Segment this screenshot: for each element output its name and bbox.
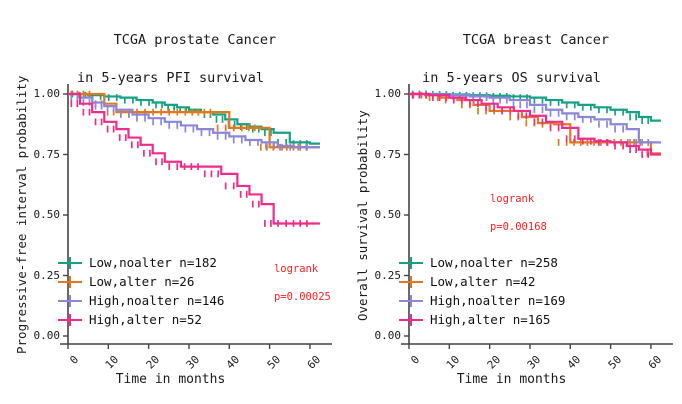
legend-color-swatch-icon (399, 256, 423, 270)
legend-item-label: High,alter n=165 (430, 312, 550, 327)
survival-curve (68, 94, 320, 147)
logrank-pvalue: p=0.00168 (490, 221, 547, 233)
legend-color-swatch-icon (58, 256, 82, 270)
y-axis-tick-label: 0.25 (355, 269, 401, 282)
legend-color-swatch-icon (399, 294, 423, 308)
survival-curve (68, 94, 320, 147)
legend-item-label: Low,alter n=42 (430, 274, 535, 289)
legend-item-label: High,noalter n=146 (89, 293, 224, 308)
censor-tick-group (71, 100, 307, 227)
survival-curve (68, 94, 320, 144)
legend-item-label: Low,noalter n=182 (89, 255, 217, 270)
y-axis-tick-label: 0.50 (355, 208, 401, 221)
plot-area (0, 0, 341, 404)
legend-item[interactable]: Low,alter n=42 (399, 272, 565, 291)
legend-color-swatch-icon (58, 313, 82, 327)
y-axis-tick-label: 0.75 (355, 148, 401, 161)
figure-root: TCGA prostate Cancer in 5-years PFI surv… (0, 0, 682, 404)
panel-breast-os: TCGA breast Cancer in 5-years OS surviva… (341, 0, 682, 404)
legend-item-label: High,alter n=52 (89, 312, 202, 327)
y-axis-tick-label: 0.25 (14, 269, 60, 282)
legend-item[interactable]: High,alter n=165 (399, 310, 565, 329)
legend-color-swatch-icon (399, 313, 423, 327)
legend: Low,noalter n=258Low,alter n=42High,noal… (399, 253, 565, 329)
y-axis-tick-label: 0.00 (355, 329, 401, 342)
y-axis-tick-label: 0.00 (14, 329, 60, 342)
legend-color-swatch-icon (58, 275, 82, 289)
survival-curve (68, 94, 320, 223)
legend-item[interactable]: Low,noalter n=258 (399, 253, 565, 272)
panel-prostate-pfi: TCGA prostate Cancer in 5-years PFI surv… (0, 0, 341, 404)
logrank-label: logrank (490, 193, 534, 205)
y-axis-tick-label: 1.00 (14, 87, 60, 100)
logrank-annotation: logrank p=0.00025 (236, 248, 331, 318)
legend-color-swatch-icon (399, 275, 423, 289)
logrank-label: logrank (274, 263, 318, 275)
legend-item[interactable]: High,noalter n=146 (58, 291, 224, 310)
legend-item[interactable]: Low,noalter n=182 (58, 253, 224, 272)
y-axis-tick-label: 0.75 (14, 148, 60, 161)
legend-item-label: Low,alter n=26 (89, 274, 194, 289)
logrank-annotation: logrank p=0.00168 (452, 178, 547, 248)
legend-color-swatch-icon (58, 294, 82, 308)
legend-item-label: High,noalter n=169 (430, 293, 565, 308)
legend-item[interactable]: Low,alter n=26 (58, 272, 224, 291)
legend: Low,noalter n=182Low,alter n=26High,noal… (58, 253, 224, 329)
legend-item[interactable]: High,alter n=52 (58, 310, 224, 329)
logrank-pvalue: p=0.00025 (274, 291, 331, 303)
legend-item[interactable]: High,noalter n=169 (399, 291, 565, 310)
censor-tick-group (72, 91, 306, 147)
y-axis-tick-label: 1.00 (355, 87, 401, 100)
y-axis-tick-label: 0.50 (14, 208, 60, 221)
legend-item-label: Low,noalter n=258 (430, 255, 558, 270)
